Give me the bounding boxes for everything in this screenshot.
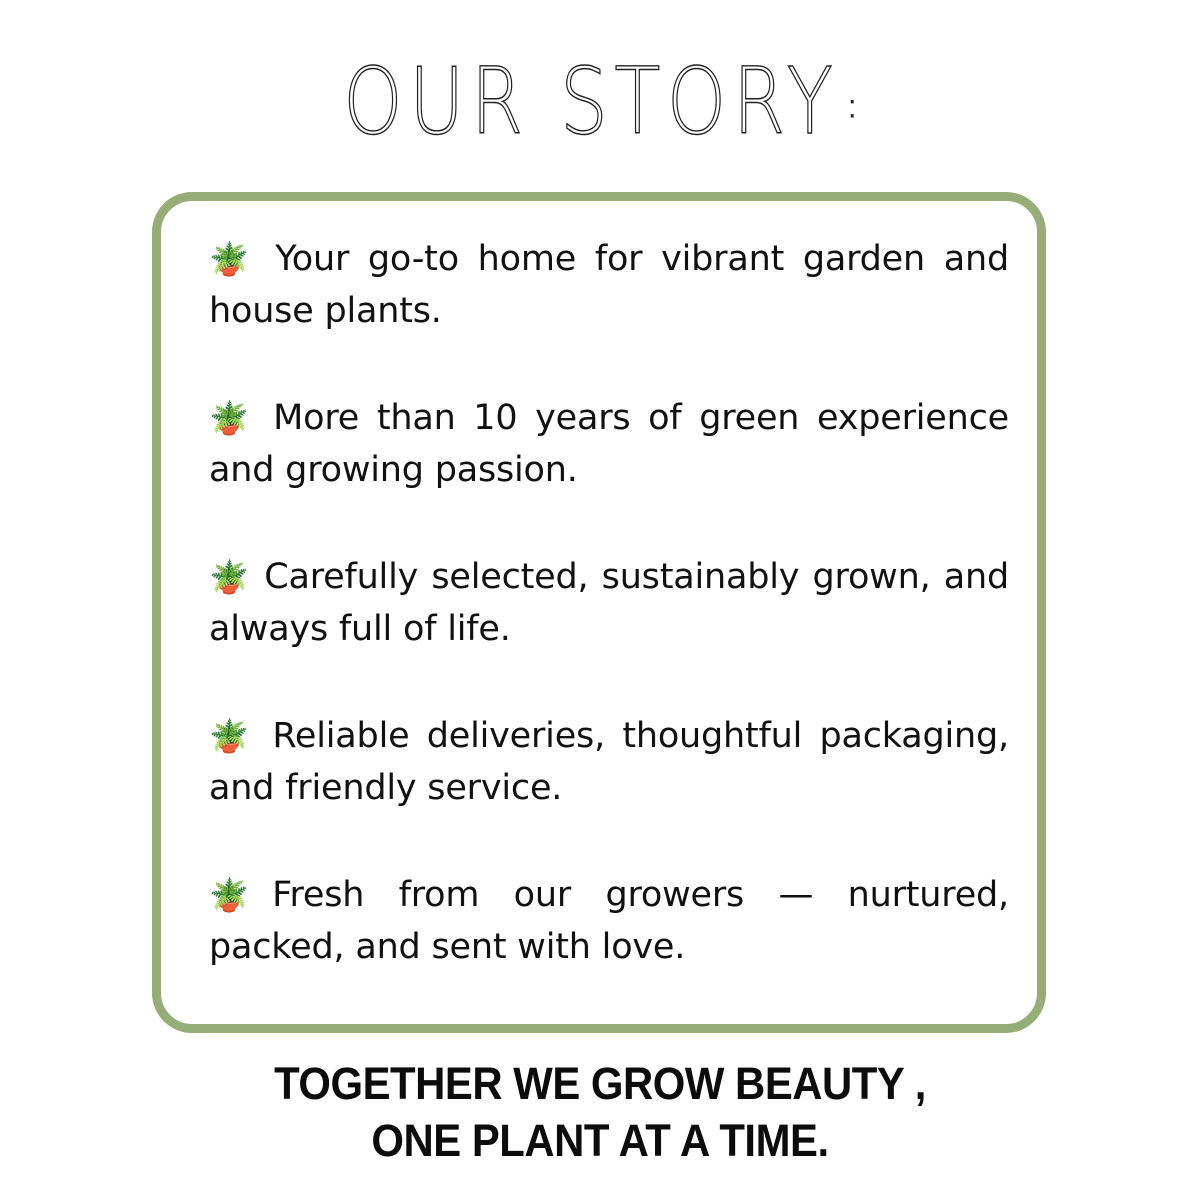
list-item: 🪴 Your go-to home for vibrant garden and… xyxy=(209,233,1009,337)
page-title: OUR STORY: xyxy=(344,57,857,149)
list-item-text: Carefully selected, sustainably grown, a… xyxy=(209,557,1009,649)
tagline-line-1: TOGETHER WE GROW BEAUTY , xyxy=(42,1055,1158,1112)
potted-plant-icon: 🪴 xyxy=(209,876,272,914)
story-list: 🪴 Your go-to home for vibrant garden and… xyxy=(209,233,1009,973)
story-card: 🪴 Your go-to home for vibrant garden and… xyxy=(152,192,1046,1033)
list-item-text: Fresh from our growers — nurtured, packe… xyxy=(209,875,1009,967)
potted-plant-icon: 🪴 xyxy=(209,558,251,596)
potted-plant-icon: 🪴 xyxy=(209,717,255,755)
tagline-line-2: ONE PLANT AT A TIME. xyxy=(42,1112,1158,1169)
potted-plant-icon: 🪴 xyxy=(209,399,255,437)
list-item: 🪴 Carefully selected, sustainably grown,… xyxy=(209,551,1009,655)
list-item: 🪴Fresh from our growers — nurtured, pack… xyxy=(209,869,1009,973)
potted-plant-icon: 🪴 xyxy=(209,240,256,278)
tagline: TOGETHER WE GROW BEAUTY , ONE PLANT AT A… xyxy=(0,1055,1200,1169)
page-title-container: OUR STORY: xyxy=(0,62,1200,144)
poster-canvas: OUR STORY: 🪴 Your go-to home for vibrant… xyxy=(0,0,1200,1200)
page-title-text: OUR STORY xyxy=(344,57,840,149)
list-item: 🪴 More than 10 years of green experience… xyxy=(209,392,1009,496)
list-item-text: Reliable deliveries, thoughtful packagin… xyxy=(209,716,1009,808)
list-item: 🪴 Reliable deliveries, thoughtful packag… xyxy=(209,710,1009,814)
page-title-colon: : xyxy=(848,91,856,125)
list-item-text: Your go-to home for vibrant garden and h… xyxy=(209,239,1009,331)
list-item-text: More than 10 years of green experience a… xyxy=(209,398,1009,490)
